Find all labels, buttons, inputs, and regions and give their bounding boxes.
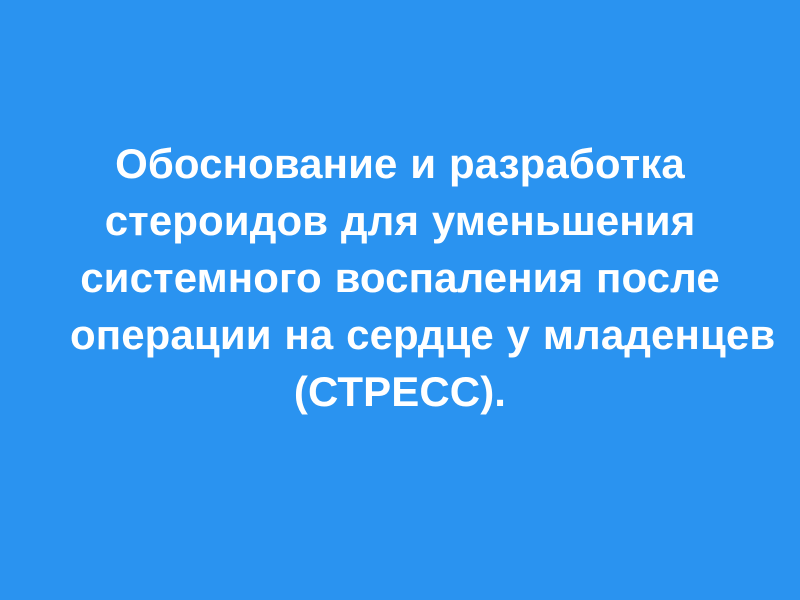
title-line-3: системного воспаления после xyxy=(70,249,730,306)
title-line-5: (СТРЕСС). xyxy=(70,363,730,420)
title-block: Обоснование и разработка стероидов для у… xyxy=(70,135,730,466)
page-title: Обоснование и разработка стероидов для у… xyxy=(70,135,730,420)
title-line-1: Обоснование и разработка xyxy=(70,135,730,192)
title-line-2: стероидов для уменьшения xyxy=(70,192,730,249)
title-slide: Обоснование и разработка стероидов для у… xyxy=(0,0,800,600)
title-line-4: операции на сердце у младенцев xyxy=(70,306,730,363)
